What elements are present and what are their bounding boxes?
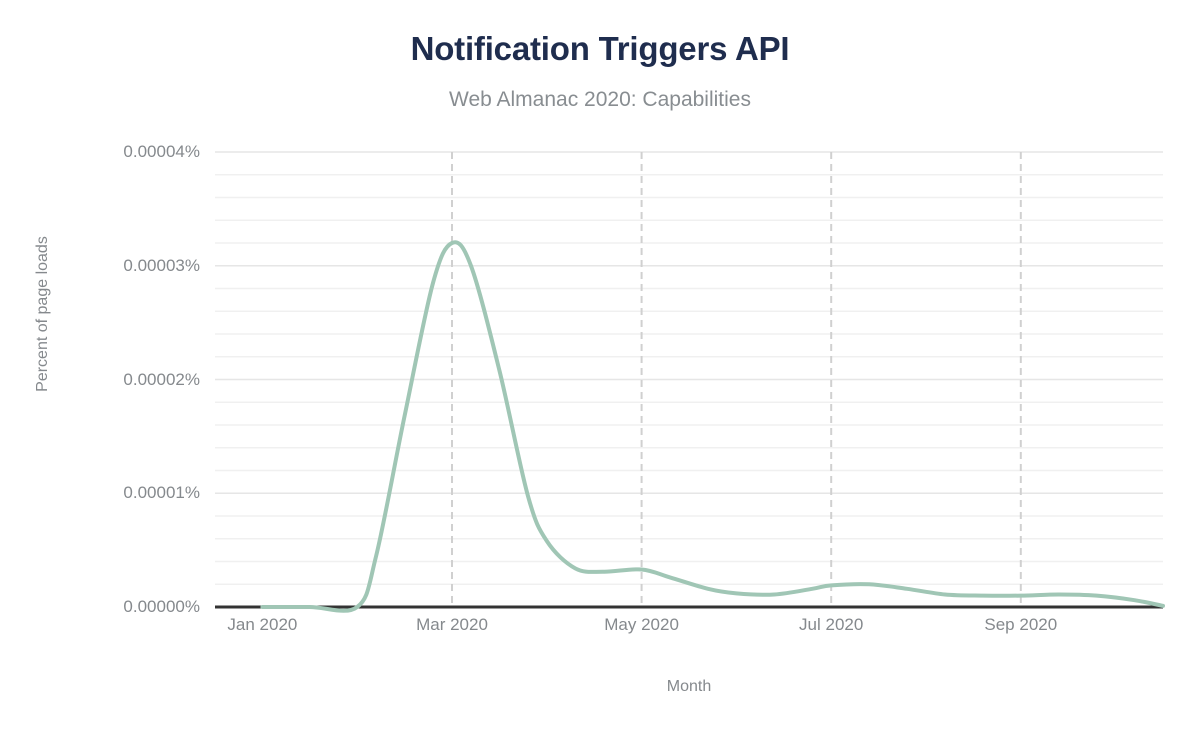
y-axis-tick-label: 0.00002% — [82, 370, 200, 390]
y-axis-tick-label: 0.00004% — [82, 142, 200, 162]
chart-container: Notification Triggers API Web Almanac 20… — [0, 0, 1200, 742]
x-axis-tick-label: Mar 2020 — [362, 615, 542, 635]
y-axis-tick-label: 0.00000% — [82, 597, 200, 617]
x-axis-tick-label: Jul 2020 — [741, 615, 921, 635]
x-axis-tick-label: Jan 2020 — [172, 615, 352, 635]
x-axis-tick-label: Sep 2020 — [931, 615, 1111, 635]
y-axis-tick-label: 0.00003% — [82, 256, 200, 276]
data-line-series-0 — [262, 242, 1163, 611]
y-axis-tick-label: 0.00001% — [82, 483, 200, 503]
x-axis-tick-label: May 2020 — [552, 615, 732, 635]
